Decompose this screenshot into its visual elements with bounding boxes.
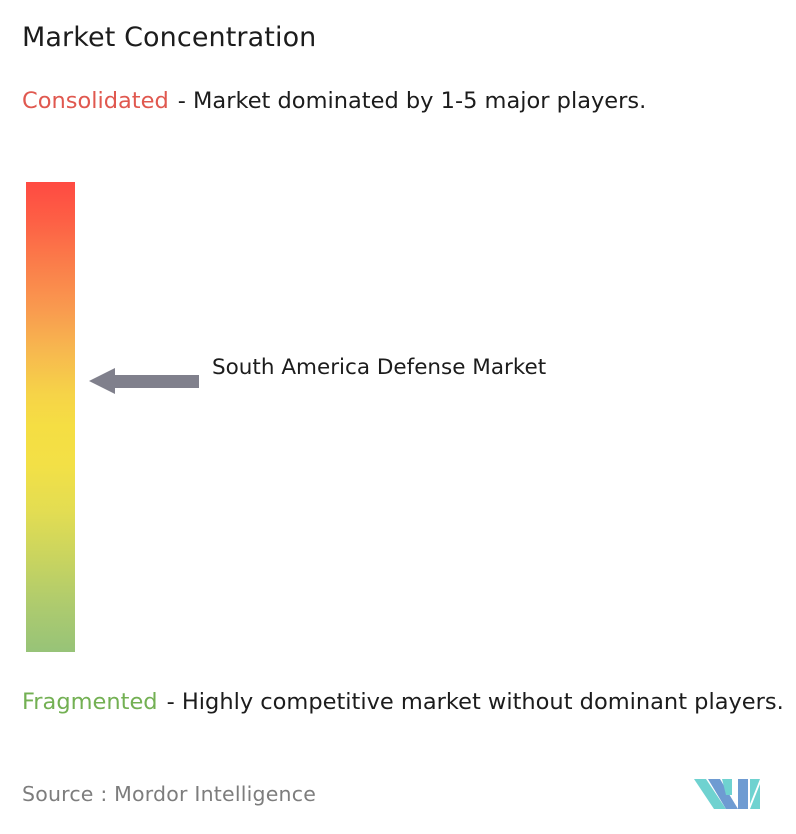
- source-attribution: Source : Mordor Intelligence: [22, 782, 316, 806]
- legend-description-fragmented: - Highly competitive market without domi…: [167, 689, 784, 715]
- legend-consolidated: Consolidated- Market dominated by 1-5 ma…: [22, 85, 774, 117]
- mordor-intelligence-logo-icon: [692, 771, 764, 813]
- page-title: Market Concentration: [22, 20, 316, 56]
- legend-description-consolidated: - Market dominated by 1-5 major players.: [178, 88, 647, 114]
- callout-arrow-icon: [89, 366, 199, 396]
- legend-fragmented: Fragmented- Highly competitive market wi…: [22, 686, 784, 718]
- callout-label-text: South America Defense Market: [212, 355, 546, 380]
- legend-term-consolidated: Consolidated: [22, 88, 169, 114]
- concentration-gradient-bar: [26, 182, 75, 652]
- market-concentration-chart: Market Concentration Consolidated- Marke…: [0, 0, 796, 834]
- callout-label: South America Defense Market: [212, 350, 632, 385]
- legend-term-fragmented: Fragmented: [22, 689, 158, 715]
